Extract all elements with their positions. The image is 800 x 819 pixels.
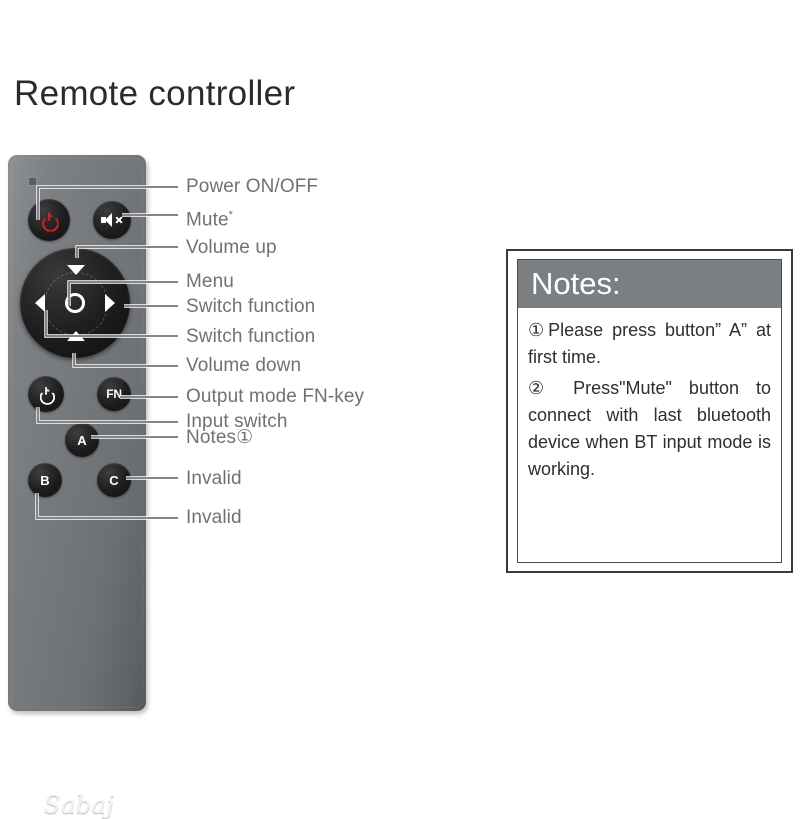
callout-menu: Menu [186,272,234,292]
note-item: ①Please press button” A” at first time. [528,317,771,371]
callout-volume-down: Volume down [186,356,301,376]
callout-notes: Notes① [186,428,253,448]
notes-panel-inner: Notes: ①Please press button” A” at first… [517,259,782,563]
callout-switch-function-right-text: Switch function [186,296,315,317]
callout-switch-function-right: Switch function [186,297,315,317]
callout-power-text: Power ON/OFF [186,176,318,197]
callout-notes-text: Notes① [186,427,253,448]
notes-header: Notes: [518,260,781,308]
callout-invalid-c-text: Invalid [186,468,242,489]
notes-body: ①Please press button” A” at first time. … [518,308,781,483]
remote-controller-diagram: Remote controller [0,0,800,800]
note-item: ② Press"Mute" button to connect with las… [528,375,771,483]
callout-switch-function-left: Switch function [186,327,315,347]
callout-menu-text: Menu [186,271,234,292]
callout-mute-superscript: * [229,209,233,221]
callout-power: Power ON/OFF [186,177,318,197]
callout-volume-up-text: Volume up [186,237,277,258]
callout-volume-down-text: Volume down [186,355,301,376]
callout-mute-text: Mute [186,209,229,230]
notes-panel: Notes: ①Please press button” A” at first… [506,249,793,573]
callout-invalid-c: Invalid [186,469,242,489]
callout-invalid-b-text: Invalid [186,507,242,528]
callout-invalid-b: Invalid [186,508,242,528]
callout-volume-up: Volume up [186,238,277,258]
callout-fn: Output mode FN-key [186,387,364,407]
callout-mute: Mute* [186,205,233,230]
callout-switch-function-left-text: Switch function [186,326,315,347]
notes-title: Notes: [531,267,621,301]
callout-fn-text: Output mode FN-key [186,386,364,407]
